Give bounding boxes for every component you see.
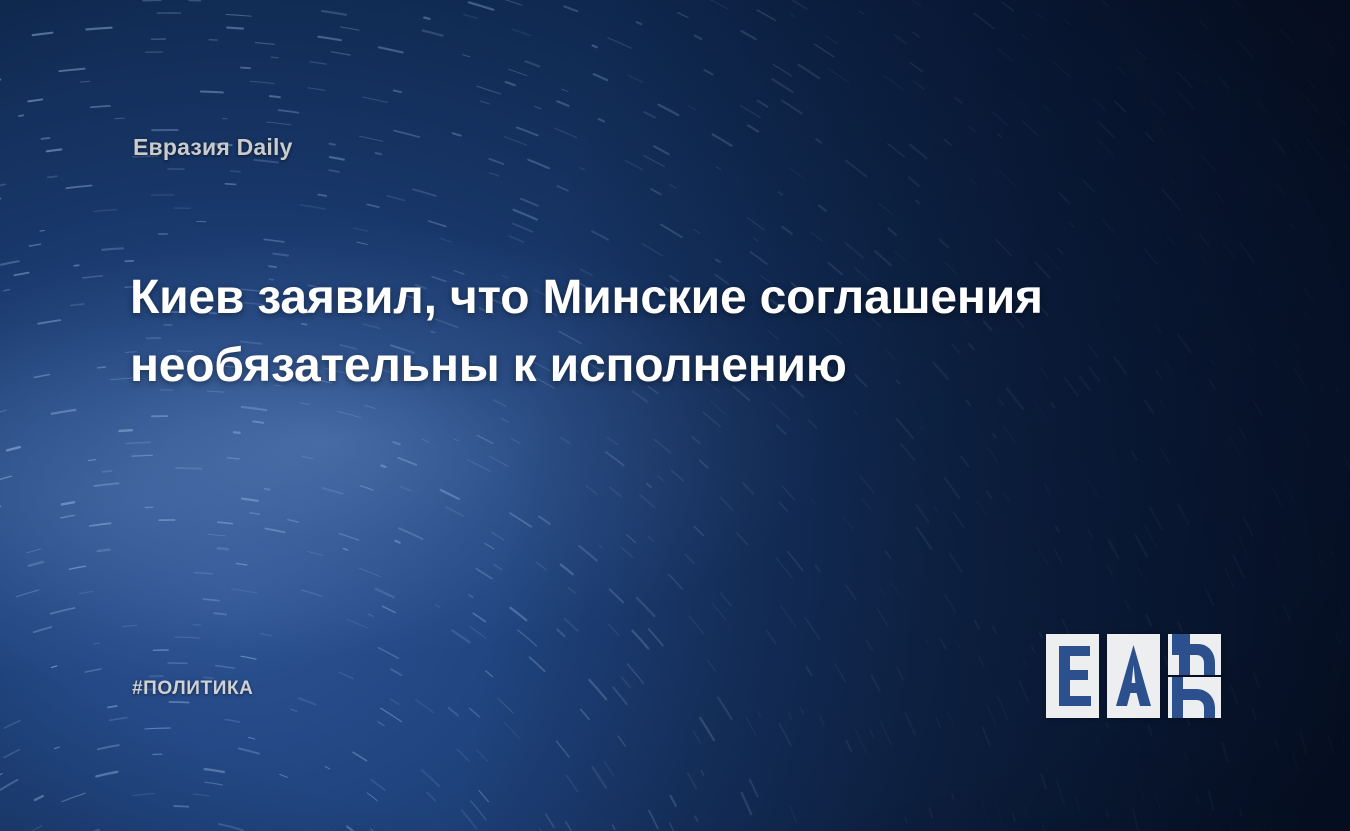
logo-half-upper — [1168, 634, 1221, 675]
logo-tile-e — [1046, 634, 1099, 718]
letter-d-lower-icon — [1168, 677, 1221, 718]
headline: Киев заявил, что Минские соглашения необ… — [130, 264, 1220, 400]
logo-tile-a — [1107, 634, 1160, 718]
news-card: Евразия Daily Киев заявил, что Минские с… — [0, 0, 1350, 831]
category-tag[interactable]: #ПОЛИТИКА — [132, 678, 254, 700]
logo-half-lower — [1168, 677, 1221, 718]
letter-a-icon — [1107, 634, 1160, 718]
ead-logo[interactable] — [1046, 634, 1222, 718]
logo-tile-d-split — [1168, 634, 1221, 718]
letter-e-icon — [1046, 634, 1099, 718]
publisher-name: Евразия Daily — [133, 134, 293, 161]
letter-d-upper-icon — [1168, 634, 1221, 675]
